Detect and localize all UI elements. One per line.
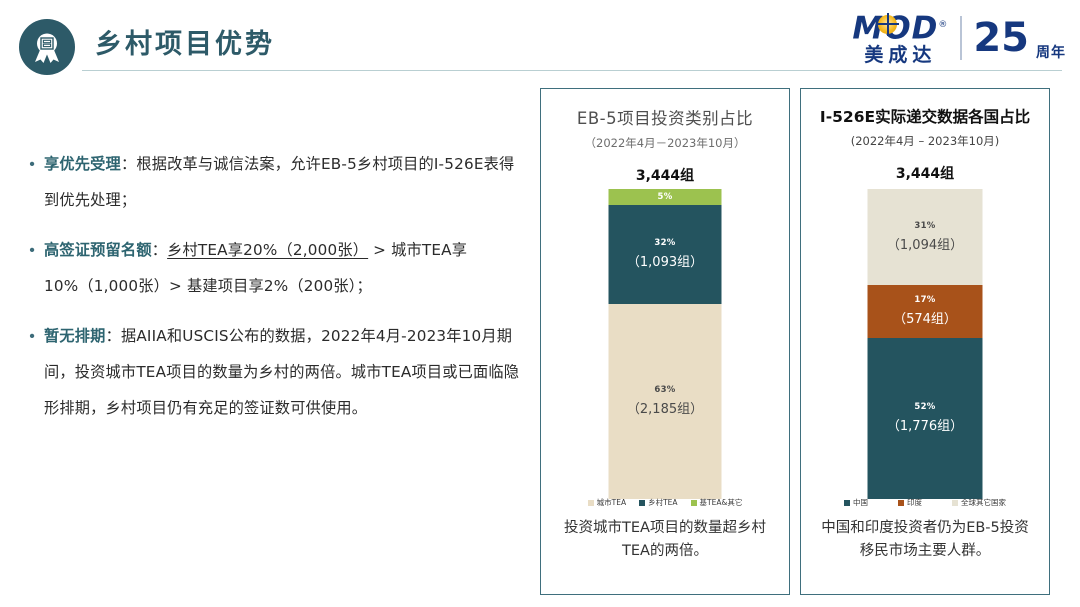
anniversary-number: 25 (973, 18, 1029, 58)
chart-footnote: 中国和印度投资者仍为EB-5投资移民市场主要人群。 (801, 517, 1049, 563)
award-ribbon-icon (19, 19, 75, 75)
segment-percent: 5% (657, 192, 672, 202)
page-title: 乡村项目优势 (95, 22, 275, 61)
chart-subtitle: (2022年4月 – 2023年10月) (801, 133, 1049, 149)
legend-label: 印度 (907, 497, 922, 508)
logo-registered-icon: ® (938, 20, 948, 30)
chart-legend: 城市TEA乡村TEA基TEA&其它 (541, 497, 789, 508)
anniversary-label: 周年 (1036, 42, 1066, 68)
chart-subtitle: （2022年4月－2023年10月） (541, 135, 789, 151)
chart-card-country-share: I-526E实际递交数据各国占比 (2022年4月 – 2023年10月) 3,… (800, 88, 1050, 595)
list-item: • 享优先受理：根据改革与诚信法案，允许EB-5乡村项目的I-526E表得到优先… (20, 146, 520, 218)
legend-swatch-icon (898, 500, 904, 506)
legend-item[interactable]: 基TEA&其它 (691, 497, 743, 508)
segment-percent: 17% (914, 295, 935, 305)
bar-segment: 31%（1,094组） (868, 189, 983, 285)
bar-segment: 32%（1,093组） (609, 205, 722, 304)
legend-swatch-icon (691, 500, 697, 506)
chart-card-investment-category: EB-5项目投资类别占比 （2022年4月－2023年10月） 3,444组 5… (540, 88, 790, 595)
segment-count: （1,093组） (627, 251, 703, 270)
legend-label: 中国 (853, 497, 868, 508)
list-item: • 暂无排期：据AIIA和USCIS公布的数据，2022年4月-2023年10月… (20, 318, 520, 426)
segment-percent: 52% (914, 402, 935, 412)
logo-wordmark: MOD® 美成达 (852, 10, 958, 66)
segment-count: （1,776组） (887, 415, 963, 434)
legend-item[interactable]: 乡村TEA (639, 497, 677, 508)
list-item-text: 享优先受理：根据改革与诚信法案，允许EB-5乡村项目的I-526E表得到优先处理… (44, 146, 520, 218)
bar-segment: 5% (609, 189, 722, 205)
list-item-lead: 高签证预留名额 (44, 241, 152, 259)
stacked-bar: 5%32%（1,093组）63%（2,185组） (609, 189, 722, 499)
bullet-dot-icon: • (20, 146, 44, 218)
segment-count: （574组） (893, 308, 957, 327)
legend-swatch-icon (952, 500, 958, 506)
bar-segment: 17%（574组） (868, 285, 983, 338)
chart-title: EB-5项目投资类别占比 (541, 105, 789, 129)
list-item-text: 高签证预留名额：乡村TEA享20%（2,000张） > 城市TEA享10%（1,… (44, 232, 520, 304)
list-item-body-pre: ： (152, 241, 167, 259)
list-item-text: 暂无排期：据AIIA和USCIS公布的数据，2022年4月-2023年10月期间… (44, 318, 520, 426)
segment-percent: 32% (654, 238, 675, 248)
bullet-dot-icon: • (20, 318, 44, 426)
page-header: 乡村项目优势 MOD® 美成达 25 周年 (0, 0, 1080, 80)
legend-swatch-icon (588, 500, 594, 506)
segment-count: （2,185组） (627, 398, 703, 417)
segment-count: （1,094组） (887, 234, 963, 253)
legend-label: 基TEA&其它 (700, 497, 743, 508)
list-item-highlight: 乡村TEA享20%（2,000张） (167, 241, 368, 259)
legend-item[interactable]: 全球其它国家 (952, 497, 1006, 508)
chart-total-label: 3,444组 (801, 163, 1049, 183)
segment-percent: 63% (654, 385, 675, 395)
legend-swatch-icon (639, 500, 645, 506)
bar-segment: 63%（2,185组） (609, 304, 722, 499)
header-divider (82, 70, 1062, 71)
list-item: • 高签证预留名额：乡村TEA享20%（2,000张） > 城市TEA享10%（… (20, 232, 520, 304)
legend-label: 乡村TEA (648, 497, 677, 508)
legend-label: 城市TEA (597, 497, 626, 508)
stacked-bar: 31%（1,094组）17%（574组）52%（1,776组） (868, 189, 983, 499)
segment-percent: 31% (914, 221, 935, 231)
logo-divider (960, 16, 962, 60)
advantages-list: • 享优先受理：根据改革与诚信法案，允许EB-5乡村项目的I-526E表得到优先… (20, 146, 520, 440)
chart-legend: 中国印度全球其它国家 (801, 497, 1049, 508)
brand-logo: MOD® 美成达 25 周年 (852, 8, 1066, 68)
chart-total-label: 3,444组 (541, 165, 789, 185)
bar-segment: 52%（1,776组） (868, 338, 983, 499)
legend-item[interactable]: 城市TEA (588, 497, 626, 508)
legend-swatch-icon (844, 500, 850, 506)
chart-footnote: 投资城市TEA项目的数量超乡村TEA的两倍。 (541, 517, 789, 563)
logo-brand-cn: 美成达 (852, 44, 948, 66)
legend-item[interactable]: 印度 (898, 497, 922, 508)
chart-title: I-526E实际递交数据各国占比 (801, 105, 1049, 127)
list-item-body: ：据AIIA和USCIS公布的数据，2022年4月-2023年10月期间，投资城… (44, 327, 519, 417)
logo-brand-en: MOD® (852, 10, 948, 43)
bullet-dot-icon: • (20, 232, 44, 304)
list-item-lead: 暂无排期 (44, 327, 106, 345)
list-item-lead: 享优先受理 (44, 155, 121, 173)
legend-label: 全球其它国家 (961, 497, 1006, 508)
legend-item[interactable]: 中国 (844, 497, 868, 508)
